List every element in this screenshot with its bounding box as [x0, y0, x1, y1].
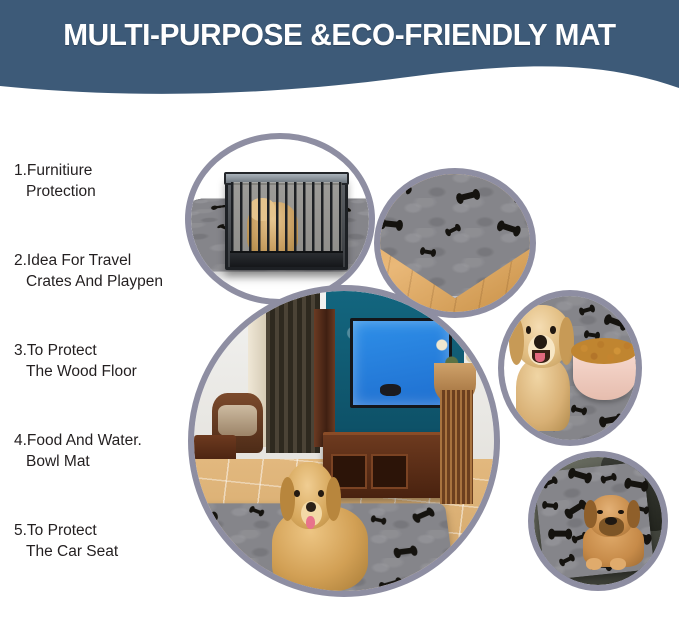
curtain — [266, 291, 320, 453]
kibble — [571, 338, 636, 364]
golden-retriever-bowl — [509, 305, 578, 432]
photo-circle-car-seat — [528, 451, 668, 591]
photo-circle-crate — [185, 133, 375, 305]
photo-collage — [0, 100, 679, 642]
photo-circle-living-room — [188, 285, 500, 597]
infographic-page: MULTI-PURPOSE &ECO-FRIENDLY MAT 1.Furnit… — [0, 0, 679, 642]
header-banner: MULTI-PURPOSE &ECO-FRIENDLY MAT — [0, 0, 679, 102]
dog-crate — [225, 176, 348, 270]
golden-retriever-living-room — [272, 462, 368, 591]
page-title: MULTI-PURPOSE &ECO-FRIENDLY MAT — [14, 17, 666, 53]
mastiff-puppy — [583, 495, 644, 567]
photo-circle-food-bowl — [498, 290, 642, 446]
